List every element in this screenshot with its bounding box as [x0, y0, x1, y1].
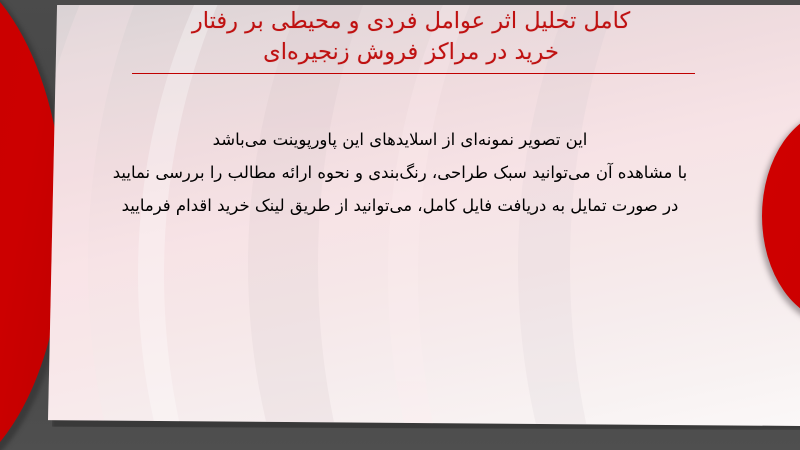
slide-title-line-1: کامل تحلیل اثر عوامل فردی و محیطی بر رفت…	[126, 6, 696, 37]
slide-body-line-1: این تصویر نمونه‌ای از اسلایدهای این پاور…	[70, 123, 730, 156]
slide-canvas: کامل تحلیل اثر عوامل فردی و محیطی بر رفت…	[0, 0, 800, 450]
slide-body-line-2: با مشاهده آن می‌توانید سبک طراحی، رنگ‌بن…	[70, 156, 730, 189]
slide-title: کامل تحلیل اثر عوامل فردی و محیطی بر رفت…	[126, 6, 696, 68]
slide-title-line-2: خرید در مراکز فروش زنجیره‌ای	[126, 37, 696, 68]
slide-body-line-3: در صورت تمایل به دریافت فایل کامل، می‌تو…	[70, 189, 730, 222]
slide-body-text: این تصویر نمونه‌ای از اسلایدهای این پاور…	[70, 123, 730, 222]
title-underline-rule	[132, 73, 695, 74]
